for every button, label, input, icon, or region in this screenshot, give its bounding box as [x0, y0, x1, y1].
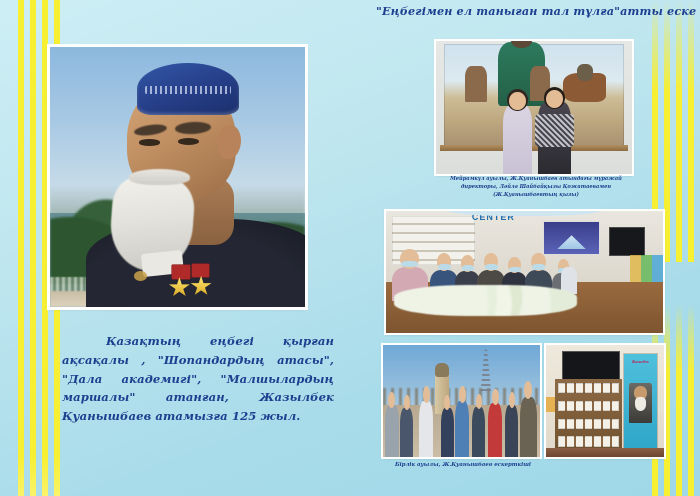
table-flowers — [394, 285, 577, 316]
tv-monitor — [610, 228, 643, 255]
stripe-bar — [664, 304, 670, 496]
portrait-photo — [50, 47, 305, 307]
book-row — [558, 436, 619, 446]
museum-person — [503, 105, 532, 174]
museum-photo — [436, 41, 632, 174]
monument-photo-caption: Бірлік ауылы, Ж.Қуанышбаев ескерткіші — [383, 461, 543, 469]
medal-ribbon-icon — [172, 265, 190, 279]
monument-visitor — [520, 397, 537, 457]
conference-artwork: CENTER — [386, 211, 663, 333]
conference-color-strip — [630, 255, 663, 282]
museum-photo-caption: Мейрамкүл ауылы, Ж.Қуанышбаев атындағы м… — [436, 176, 636, 200]
monument-visitor — [488, 403, 502, 457]
portrait-eye-left — [139, 139, 159, 145]
mural-figure — [465, 66, 487, 101]
monument-visitor — [455, 401, 469, 457]
museum-person — [538, 102, 571, 174]
book-display-stand — [555, 379, 621, 453]
stripe-bar — [30, 0, 36, 496]
medal-ribbon-icon — [192, 264, 210, 278]
commemorative-banner: Жазылбек — [624, 354, 657, 450]
exhibition-photo: Жазылбек — [546, 345, 664, 457]
exhibition-floor — [546, 448, 664, 457]
book-row — [558, 383, 619, 393]
monument-photo — [383, 345, 540, 457]
portrait-eye-right — [178, 138, 200, 145]
exhibition-artwork: Жазылбек — [546, 345, 664, 457]
poster-canvas: "Еңбегімен ел таныған тал тұлға"атты еск… — [0, 0, 700, 496]
conference-photo: CENTER — [386, 211, 663, 333]
monument-artwork — [383, 345, 540, 457]
monument-visitor — [505, 405, 518, 457]
stripe-bar — [688, 304, 694, 496]
museum-ledge — [440, 145, 628, 152]
monument-visitor — [419, 401, 433, 457]
exhibition-tv — [563, 352, 620, 379]
stripe-bar — [676, 304, 682, 496]
stripe-bar — [664, 0, 670, 262]
book-row — [558, 419, 619, 429]
banner-portrait — [629, 383, 651, 423]
stripe-bar — [688, 0, 694, 262]
museum-artwork — [436, 41, 632, 174]
portrait-mustache — [129, 169, 190, 185]
banner-title-line-1: Жазылбек — [626, 360, 655, 379]
monument-visitor — [441, 408, 454, 457]
portrait-artwork — [50, 47, 305, 307]
book-row — [558, 401, 619, 411]
monument-visitor — [472, 407, 485, 457]
monument-bust — [435, 363, 449, 378]
poster-title: "Еңбегімен ел таныған тал тұлға"атты еск… — [376, 4, 696, 18]
stripe-bar — [42, 0, 48, 496]
monument-visitor — [400, 408, 413, 457]
projector-screen — [544, 222, 599, 254]
monument-visitor — [385, 405, 399, 457]
portrait-skullcap — [137, 63, 239, 115]
museum-mural — [444, 44, 624, 148]
stripe-bar — [18, 0, 24, 496]
description-text: Қазақтың еңбегі қырған ақсақалы , "Шопан… — [62, 332, 334, 426]
portrait-badge — [134, 271, 147, 281]
stripe-bar — [676, 0, 682, 262]
mural-rider — [577, 64, 593, 81]
